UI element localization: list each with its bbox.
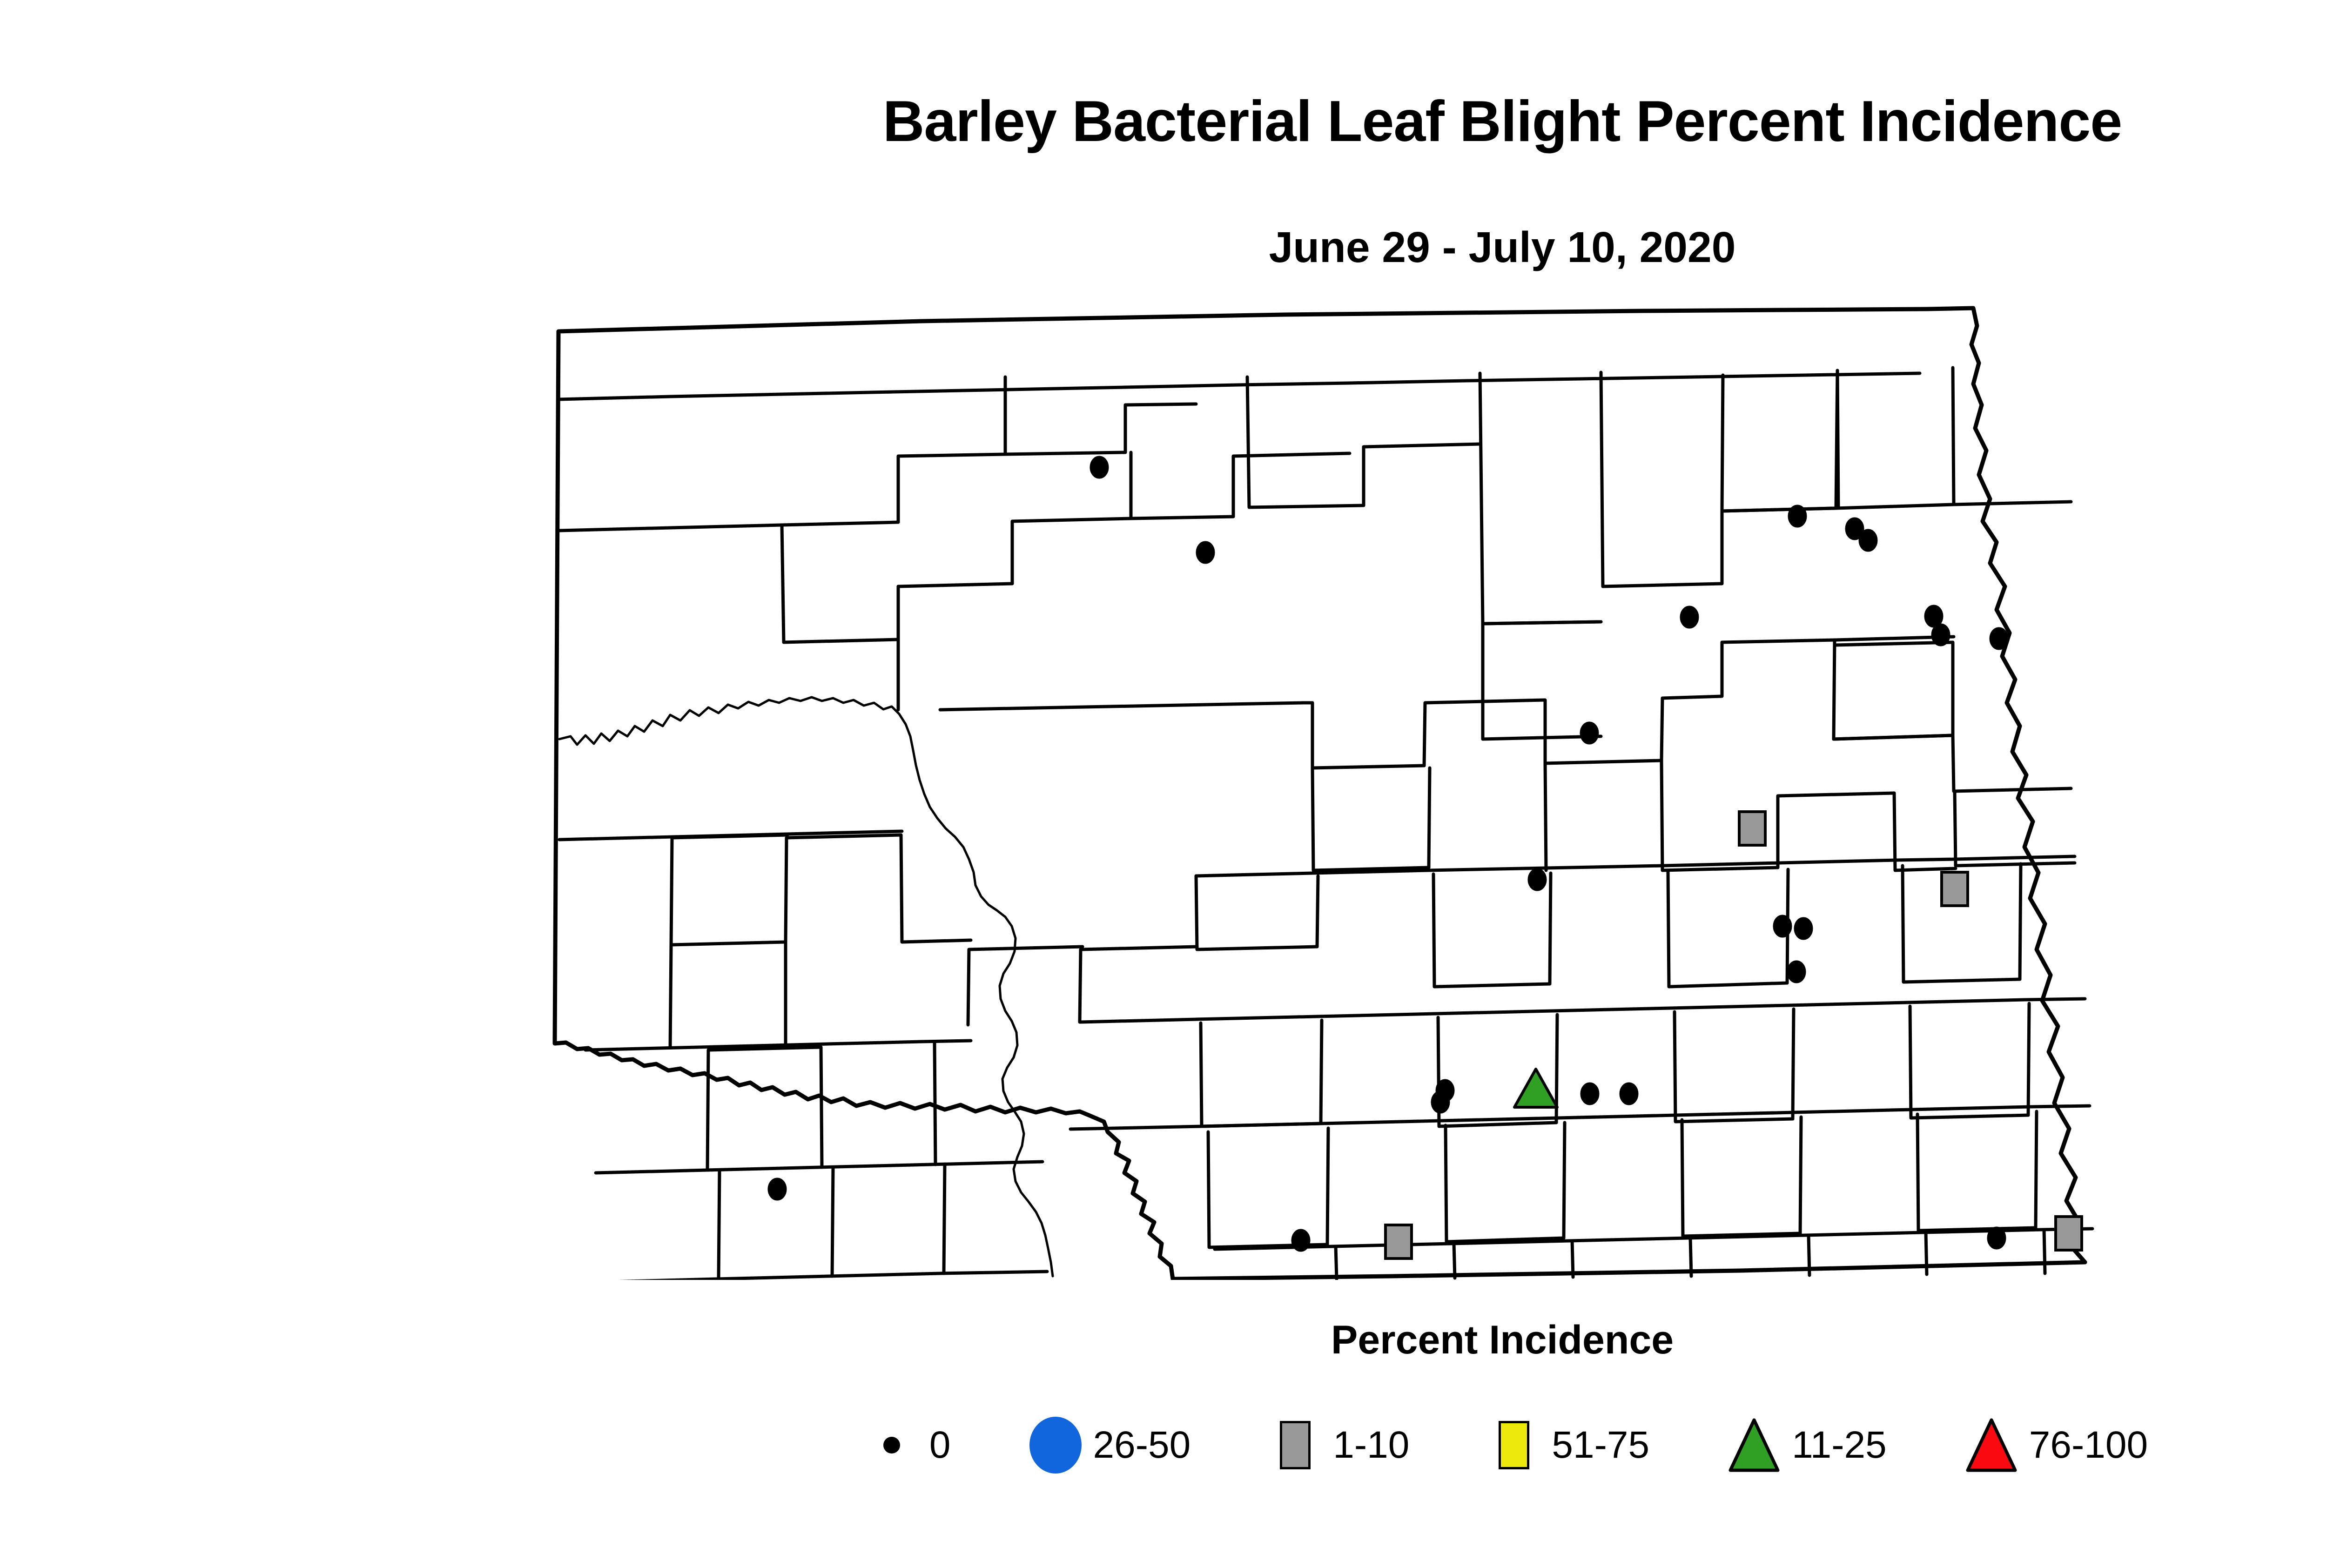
tier-line-50: [1917, 1114, 2036, 1231]
map-point-0: [1197, 542, 1214, 563]
tier-line-20: [1429, 768, 1430, 868]
ne-line-1: [1837, 370, 1838, 507]
tier-line-33: [1081, 1019, 1198, 1022]
map-point-1-10: [1739, 812, 1765, 845]
tier-line-19: [1312, 768, 1429, 870]
tier-line-15: [1834, 735, 2071, 791]
tier-line-35: [1201, 1023, 1321, 1126]
s-line-5: [1690, 1238, 1691, 1276]
tier-line-39: [1675, 1012, 1793, 1122]
tier-line-34: [968, 947, 1083, 1025]
tier-line-7: [1722, 370, 1837, 511]
north-dakota-county-map: [531, 289, 2197, 1280]
ne-line-3: [1722, 375, 1723, 511]
small-black-dot-swatch: [883, 1437, 900, 1454]
legend-item-51-75[interactable]: 51-75: [1479, 1399, 1719, 1492]
s-line-2: [1336, 1246, 1337, 1279]
yellow-square-icon: [1479, 1399, 1549, 1492]
legend-item-26-50[interactable]: 26-50: [1021, 1399, 1261, 1492]
page-subtitle: June 29 - July 10, 2020: [0, 222, 2327, 272]
legend-item-11-25[interactable]: 11-25: [1719, 1399, 1957, 1492]
map-point-0: [1581, 1083, 1599, 1104]
map-point-0: [1090, 457, 1108, 478]
tier-line-27: [1668, 871, 1787, 987]
map-point-0: [1292, 1230, 1310, 1251]
sw-line-7: [596, 1162, 1042, 1173]
legend-items: 026-501-1051-7511-2576-100: [0, 1399, 2327, 1492]
legend-item-76-100[interactable]: 76-100: [1957, 1399, 2148, 1492]
map-point-0: [1795, 918, 1812, 939]
legend-label: 76-100: [2029, 1423, 2148, 1467]
tier-line-32: [1080, 947, 1197, 1022]
sw-line-10: [935, 1043, 935, 1164]
sw-line-2: [670, 942, 786, 1047]
tier-line-11: [782, 525, 898, 642]
s-line-6: [1809, 1235, 1809, 1275]
missouri-river-lower: [975, 885, 1053, 1276]
tier-line-25: [1433, 874, 1550, 987]
red-triangle-swatch: [1964, 1416, 2019, 1474]
tier-line-2c: [1005, 404, 1196, 454]
sw-line-8: [707, 1047, 821, 1170]
tier-line-1: [559, 373, 1920, 399]
map-legend: Percent Incidence 026-501-1051-7511-2576…: [0, 1317, 2327, 1513]
tier-line-48: [1682, 1120, 1800, 1236]
tier-line-17: [1661, 760, 1894, 870]
s-line-4: [1572, 1241, 1573, 1277]
ne-line-2: [1953, 368, 2071, 505]
lake-sakakawea: [559, 697, 975, 885]
legend-label: 1-10: [1333, 1423, 1409, 1467]
tier-line-30: [2020, 864, 2021, 979]
tier-line-4: [1247, 377, 1480, 507]
s-line-8: [2044, 1230, 2045, 1273]
map-point-1-10: [1942, 872, 1968, 906]
map-point-0: [1859, 530, 1877, 551]
page-title: Barley Bacterial Leaf Blight Percent Inc…: [0, 88, 2327, 155]
tier-line-24: [1317, 876, 1318, 947]
legend-label: 51-75: [1552, 1423, 1649, 1467]
tier-line-42: [2028, 1003, 2029, 1115]
s-line-1: [1215, 1229, 2092, 1249]
map-point-0: [1528, 869, 1546, 890]
tier-line-44: [1208, 1132, 1327, 1247]
legend-title: Percent Incidence: [0, 1317, 2327, 1363]
sw-line-12: [719, 1170, 720, 1279]
map-point-0: [1789, 505, 1806, 527]
figure-canvas: Barley Bacterial Leaf Blight Percent Inc…: [0, 0, 2327, 1568]
map-svg: [531, 289, 2197, 1280]
map-point-1-10: [1385, 1225, 1412, 1258]
tier-line-23: [1196, 876, 1317, 949]
tier-line-2: [559, 522, 898, 531]
tier-line-26: [1550, 873, 1551, 984]
tier-line-47: [1564, 1123, 1565, 1238]
sw-line-14: [944, 1164, 945, 1273]
map-point-0: [1580, 722, 1598, 744]
ne-line-4: [1836, 505, 1954, 508]
map-point-0: [1988, 1227, 2005, 1249]
map-point-0: [1990, 628, 2008, 649]
yellow-square-swatch: [1499, 1421, 1529, 1469]
tier-line-31: [1196, 999, 2085, 1019]
tier-line-51: [2036, 1111, 2037, 1228]
sw-line-4: [901, 835, 971, 942]
legend-label: 0: [929, 1423, 951, 1467]
map-point-0: [768, 1178, 786, 1200]
green-triangle-icon: [1719, 1399, 1789, 1492]
red-triangle-icon: [1957, 1399, 2026, 1492]
map-point-0: [1788, 961, 1805, 983]
tier-line-45: [1327, 1128, 1328, 1245]
legend-item-0[interactable]: 0: [857, 1399, 1021, 1492]
map-point-0: [1774, 915, 1791, 937]
map-point-0: [1681, 606, 1698, 628]
s-line-3: [1454, 1244, 1455, 1278]
tier-line-49: [1800, 1117, 1801, 1233]
tier-line-21: [1545, 763, 1546, 870]
tier-line-36: [1321, 1020, 1322, 1124]
tier-line-6: [1601, 372, 1834, 586]
tier-line-46: [1446, 1125, 1564, 1242]
map-point-0: [1432, 1091, 1449, 1113]
gray-square-icon: [1260, 1399, 1330, 1492]
blue-circle-icon: [1021, 1399, 1090, 1492]
tier-line-12: [940, 703, 1424, 768]
legend-label: 26-50: [1093, 1423, 1191, 1467]
green-triangle-swatch: [1727, 1416, 1782, 1474]
map-point-0: [1620, 1083, 1638, 1104]
tier-line-40: [1793, 1009, 1794, 1119]
ne-line-6: [1834, 640, 1835, 739]
tier-line-16: [1955, 791, 2075, 866]
blue-circle-swatch: [1029, 1417, 1082, 1474]
sw-line-13: [832, 1167, 833, 1276]
map-point-0: [1932, 624, 1950, 646]
tier-line-9: [1483, 622, 1601, 739]
s-line-7: [1926, 1232, 1927, 1274]
county-boundaries: [555, 308, 2092, 1280]
tier-line-2b: [898, 377, 1005, 522]
legend-item-1-10[interactable]: 1-10: [1260, 1399, 1479, 1492]
tier-line-14: [1661, 640, 1836, 760]
sw-line-9: [821, 1047, 822, 1167]
gray-square-swatch: [1280, 1421, 1311, 1469]
tier-line-3b: [1131, 453, 1350, 518]
sw-line-11: [610, 1272, 1047, 1280]
tier-line-5: [1480, 373, 1601, 624]
sw-line-5: [671, 835, 787, 945]
small-black-dot-icon: [857, 1399, 927, 1492]
tier-line-8: [1834, 642, 1953, 739]
legend-label: 11-25: [1792, 1423, 1887, 1467]
map-point-11-25: [1514, 1069, 1557, 1107]
map-point-1-10: [2056, 1217, 2082, 1250]
tier-line-41: [1910, 1006, 2028, 1118]
sw-line-3: [786, 835, 901, 942]
tier-line-13: [1424, 700, 1661, 766]
